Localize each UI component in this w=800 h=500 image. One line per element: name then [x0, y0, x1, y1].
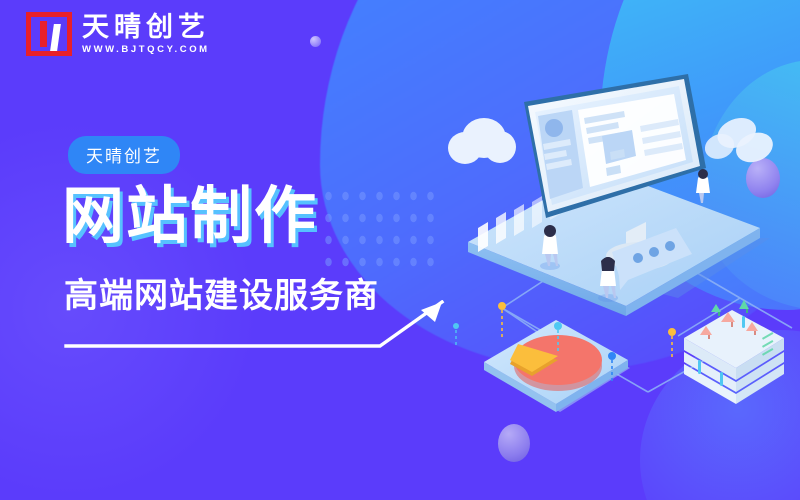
brand-logo[interactable]: 天晴创艺 WWW.BJTQCY.COM [26, 12, 210, 56]
promo-banner: 天晴创艺 WWW.BJTQCY.COM 天晴创艺 网站制作 高端网站建设服务商 [0, 0, 800, 500]
logo-company-name: 天晴创艺 [82, 13, 210, 41]
tianqing-logo-mark-icon [26, 12, 72, 56]
logo-text-group: 天晴创艺 WWW.BJTQCY.COM [82, 13, 210, 55]
dot-grid-pattern [318, 183, 440, 275]
hero-badge: 天晴创艺 [68, 136, 180, 174]
underline-arrow-icon [50, 300, 470, 420]
hero-headline: 网站制作 [62, 184, 318, 249]
hero-illustration [440, 60, 800, 480]
person-figure [696, 169, 710, 203]
sphere-icon-top [310, 36, 321, 47]
logo-website-url: WWW.BJTQCY.COM [82, 44, 210, 55]
